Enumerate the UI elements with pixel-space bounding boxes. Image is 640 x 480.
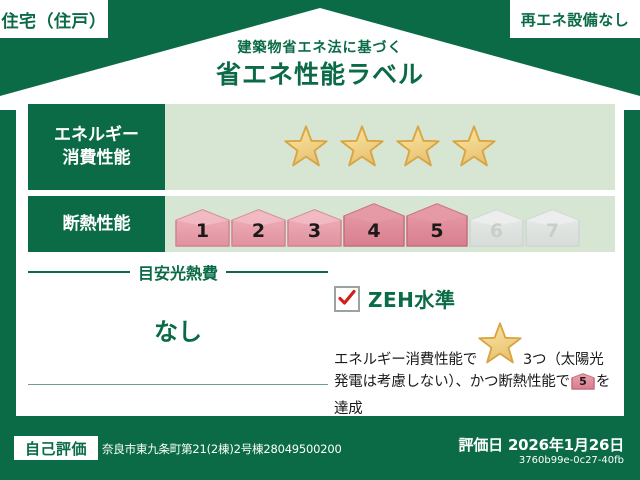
label-title-main: 省エネ性能ラベル: [0, 59, 640, 92]
insulation-level-scale: 1234567: [165, 196, 615, 252]
zeh-desc-line1-pre: エネルギー消費性能で: [334, 352, 477, 368]
star-icon: [395, 124, 441, 170]
insulation-level-value: 3: [287, 220, 342, 242]
zeh-standard-heading: ZEH水準: [334, 284, 615, 313]
zeh-standard-description: エネルギー消費性能で3つ（太陽光発電は考慮しない）、かつ断熱性能で5を達成: [334, 321, 615, 420]
zeh-checkbox: [334, 286, 360, 312]
energy-performance-row: エネルギー 消費性能: [28, 104, 615, 190]
check-icon: [337, 288, 357, 308]
star-icon: [477, 321, 523, 367]
insulation-level-badge: 1: [175, 201, 230, 247]
self-evaluation-tag: 自己評価: [14, 436, 98, 460]
insulation-level-value: 1: [175, 220, 230, 242]
label-footer: 自己評価 奈良市東九条町第21(2棟)2号棟28049500200 評価日 20…: [0, 428, 640, 480]
renewable-equipment-tag-label: 再エネ設備なし: [521, 9, 630, 30]
renewable-equipment-tag: 再エネ設備なし: [510, 0, 640, 38]
energy-star-rating: [165, 104, 615, 190]
insulation-level-value: 5: [406, 220, 468, 242]
building-type-tag: 住宅（住戸）: [0, 0, 108, 38]
utility-cost-underline: [28, 384, 328, 385]
heading-rule-left: [28, 271, 130, 273]
insulation-performance-key-label: 断熱性能: [63, 213, 131, 236]
zeh-standard-section: ZEH水準 エネルギー消費性能で3つ（太陽光発電は考慮しない）、かつ断熱性能で5…: [334, 284, 615, 420]
utility-cost-heading-label: 目安光熱費: [138, 260, 218, 284]
energy-performance-key-line1: エネルギー: [54, 124, 139, 147]
energy-performance-label: 住宅（住戸） 再エネ設備なし 建築物省エネ法に基づく 省エネ性能ラベル エネルギ…: [0, 0, 640, 480]
insulation-performance-key: 断熱性能: [28, 196, 165, 252]
self-evaluation-tag-label: 自己評価: [25, 438, 87, 459]
insulation-performance-row: 断熱性能 1234567: [28, 196, 615, 252]
zeh-desc-line2-pre: は考慮しない）、かつ断熱性能で: [363, 374, 570, 390]
insulation-level-value: 6: [469, 220, 524, 242]
energy-performance-key-line2: 消費性能: [63, 147, 131, 170]
insulation-level-badge: 3: [287, 201, 342, 247]
star-icon: [339, 124, 385, 170]
insulation-level-value: 7: [525, 220, 580, 242]
energy-performance-key: エネルギー 消費性能: [28, 104, 165, 190]
insulation-level-badge: 6: [469, 201, 524, 247]
utility-cost-heading: 目安光熱費: [28, 260, 328, 284]
insulation-level-badge: 7: [525, 201, 580, 247]
label-title-sub: 建築物省エネ法に基づく: [0, 40, 640, 57]
insulation-level-badge: 4: [343, 201, 405, 247]
utility-cost-section: 目安光熱費 なし: [28, 260, 328, 347]
insulation-level-badge: 5: [406, 201, 468, 247]
utility-cost-value: なし: [28, 312, 328, 347]
label-content-card: エネルギー 消費性能 断熱性能 1234567 目安光熱費 なし: [16, 96, 624, 416]
star-icon: [283, 124, 329, 170]
insulation-level-badge: 2: [231, 201, 286, 247]
evaluation-id: 3760b99e-0c27-40fb: [519, 455, 624, 466]
label-title-block: 建築物省エネ法に基づく 省エネ性能ラベル: [0, 40, 640, 91]
property-address: 奈良市東九条町第21(2棟)2号棟28049500200: [102, 441, 342, 457]
insulation-level-badge-inline: 5: [571, 373, 595, 397]
insulation-level-value: 4: [343, 220, 405, 242]
insulation-level-value: 2: [231, 220, 286, 242]
heading-rule-right: [226, 271, 328, 273]
building-type-tag-label: 住宅（住戸）: [2, 7, 107, 32]
zeh-standard-title: ZEH水準: [368, 284, 455, 313]
star-icon: [451, 124, 497, 170]
evaluation-date: 評価日 2026年1月26日: [459, 434, 624, 455]
